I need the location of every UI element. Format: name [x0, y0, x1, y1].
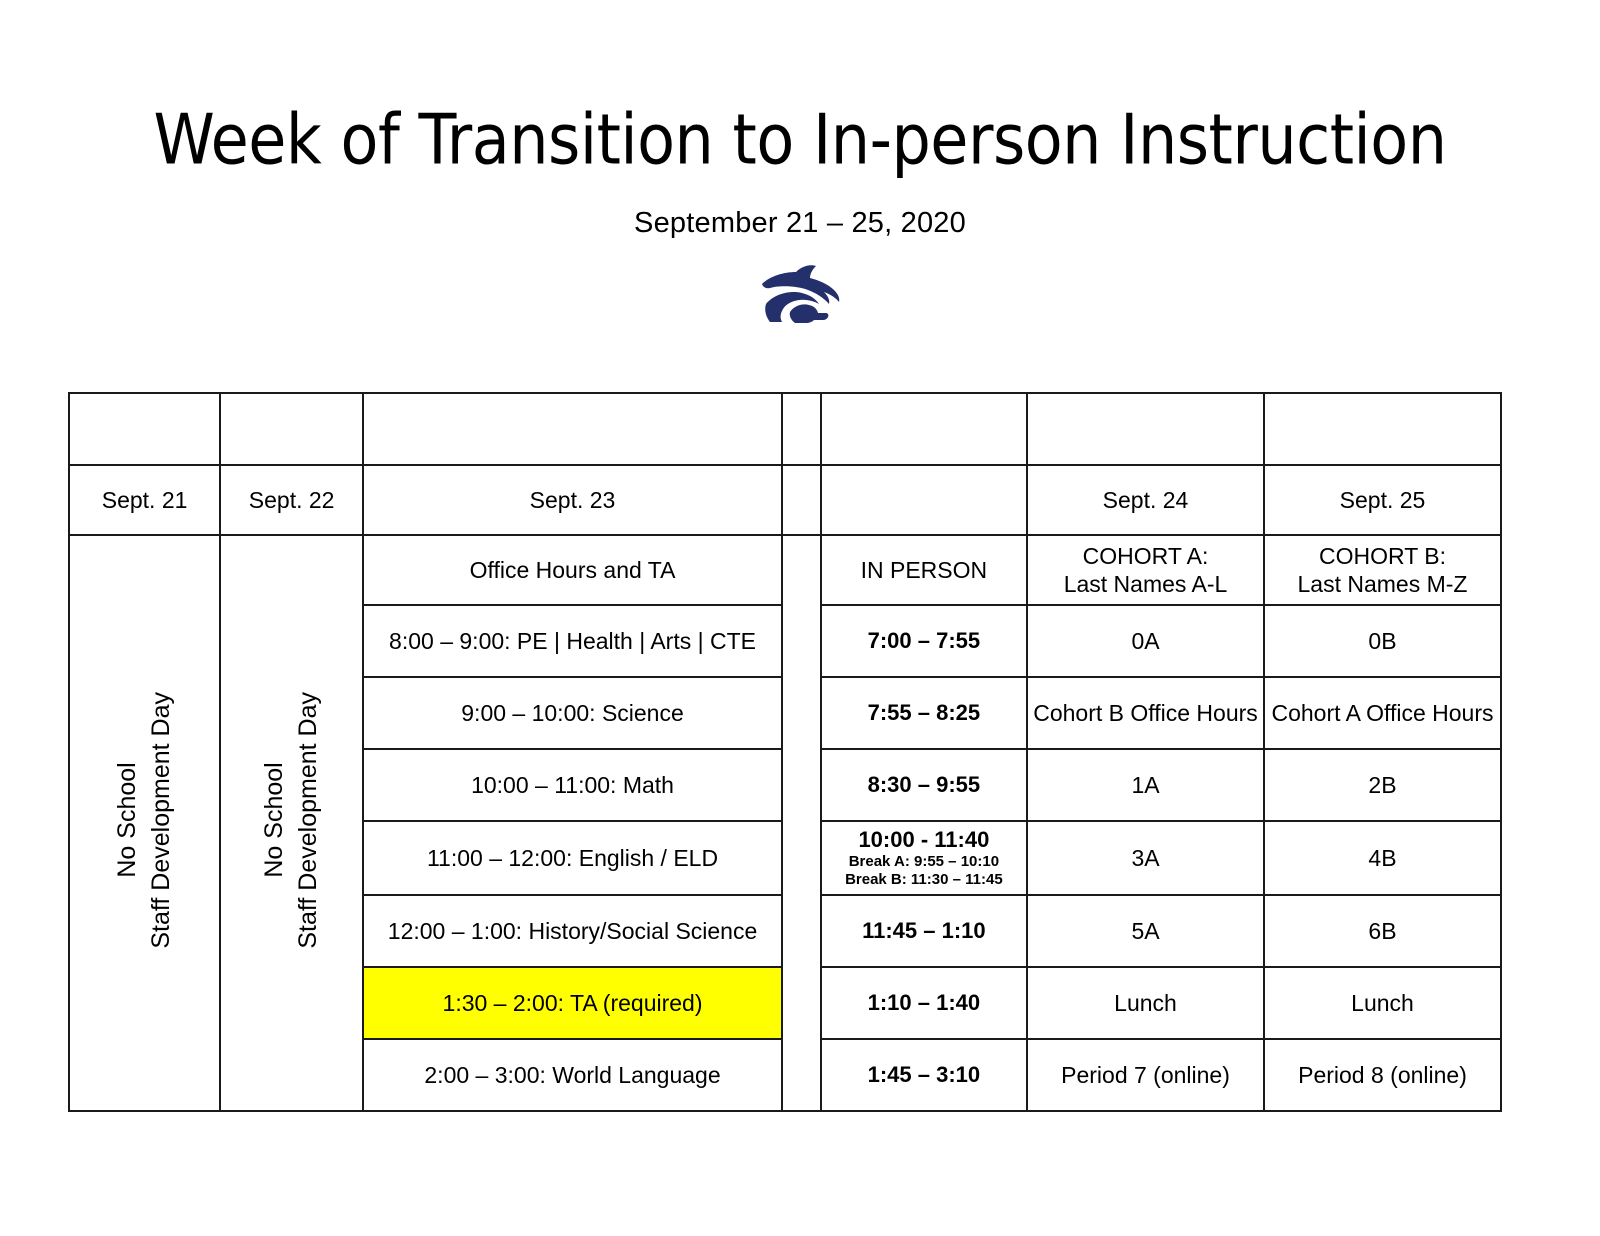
thursday-block: Period 7 (online) [1027, 1039, 1264, 1111]
day-header-row: MONDAY TUESDAY WEDNESDAY THURSDAY FRIDAY [69, 393, 1501, 465]
date-time-spacer [821, 465, 1027, 535]
cohort-banner-row: No School Staff Development Day No Schoo… [69, 535, 1501, 605]
schedule-page: Week of Transition to In-person Instruct… [0, 0, 1600, 1236]
wednesday-block: 11:00 – 12:00: English / ELD [363, 821, 782, 895]
time-main: 8:30 – 9:55 [822, 772, 1026, 798]
wednesday-block: 9:00 – 10:00: Science [363, 677, 782, 749]
time-main: 10:00 - 11:40 [822, 827, 1026, 853]
monday-no-school-label: No School Staff Development Day [111, 692, 179, 949]
thursday-cohort-line1: COHORT A: [1083, 543, 1209, 569]
in-person-time: 7:00 – 7:55 [821, 605, 1027, 677]
logo-container [0, 240, 1600, 326]
header-friday: FRIDAY [1264, 393, 1501, 465]
thursday-block: 3A [1027, 821, 1264, 895]
header-monday: MONDAY [69, 393, 220, 465]
friday-cohort-banner: COHORT B: Last Names M-Z [1264, 535, 1501, 605]
friday-block: 4B [1264, 821, 1501, 895]
in-person-time: 10:00 - 11:40 Break A: 9:55 – 10:10 Brea… [821, 821, 1027, 895]
in-person-label: IN PERSON [821, 535, 1027, 605]
tuesday-no-school-cell: No School Staff Development Day [220, 535, 363, 1111]
wednesday-block: 2:00 – 3:00: World Language [363, 1039, 782, 1111]
monday-no-school-cell: No School Staff Development Day [69, 535, 220, 1111]
header-tuesday: TUESDAY [220, 393, 363, 465]
page-title: Week of Transition to In-person Instruct… [0, 0, 1600, 176]
thursday-block: 0A [1027, 605, 1264, 677]
date-thursday: Sept. 24 [1027, 465, 1264, 535]
weekly-schedule-table: MONDAY TUESDAY WEDNESDAY THURSDAY FRIDAY… [68, 392, 1502, 1112]
schedule-table-container: MONDAY TUESDAY WEDNESDAY THURSDAY FRIDAY… [68, 392, 1502, 1112]
column-divider [782, 535, 821, 1111]
header-time-spacer [821, 393, 1027, 465]
friday-block: 6B [1264, 895, 1501, 967]
date-monday: Sept. 21 [69, 465, 220, 535]
time-main: 7:00 – 7:55 [822, 628, 1026, 654]
friday-block: 2B [1264, 749, 1501, 821]
friday-block: Cohort A Office Hours [1264, 677, 1501, 749]
thursday-block: Lunch [1027, 967, 1264, 1039]
in-person-time: 8:30 – 9:55 [821, 749, 1027, 821]
friday-block: Period 8 (online) [1264, 1039, 1501, 1111]
time-break-b: Break B: 11:30 – 11:45 [822, 871, 1026, 889]
date-wednesday: Sept. 23 [363, 465, 782, 535]
in-person-time: 7:55 – 8:25 [821, 677, 1027, 749]
thursday-block: Cohort B Office Hours [1027, 677, 1264, 749]
header-wednesday: WEDNESDAY [363, 393, 782, 465]
time-main: 7:55 – 8:25 [822, 700, 1026, 726]
in-person-time: 1:45 – 3:10 [821, 1039, 1027, 1111]
thursday-block: 1A [1027, 749, 1264, 821]
thursday-block: 5A [1027, 895, 1264, 967]
time-break-a: Break A: 9:55 – 10:10 [822, 853, 1026, 871]
in-person-time: 11:45 – 1:10 [821, 895, 1027, 967]
wednesday-block-highlighted: 1:30 – 2:00: TA (required) [363, 967, 782, 1039]
time-main: 1:45 – 3:10 [822, 1062, 1026, 1088]
time-main: 11:45 – 1:10 [822, 918, 1026, 944]
thursday-cohort-line2: Last Names A-L [1064, 571, 1228, 597]
wednesday-block: 12:00 – 1:00: History/Social Science [363, 895, 782, 967]
date-row: Sept. 21 Sept. 22 Sept. 23 Sept. 24 Sept… [69, 465, 1501, 535]
wolf-mascot-logo-icon [740, 262, 860, 326]
in-person-time: 1:10 – 1:40 [821, 967, 1027, 1039]
wednesday-section-heading: Office Hours and TA [363, 535, 782, 605]
time-main: 1:10 – 1:40 [822, 990, 1026, 1016]
friday-block: Lunch [1264, 967, 1501, 1039]
date-tuesday: Sept. 22 [220, 465, 363, 535]
wednesday-block: 8:00 – 9:00: PE | Health | Arts | CTE [363, 605, 782, 677]
wednesday-block: 10:00 – 11:00: Math [363, 749, 782, 821]
friday-cohort-line2: Last Names M-Z [1298, 571, 1468, 597]
column-divider [782, 465, 821, 535]
date-friday: Sept. 25 [1264, 465, 1501, 535]
column-divider [782, 393, 821, 465]
header-thursday: THURSDAY [1027, 393, 1264, 465]
thursday-cohort-banner: COHORT A: Last Names A-L [1027, 535, 1264, 605]
friday-cohort-line1: COHORT B: [1319, 543, 1446, 569]
tuesday-no-school-label: No School Staff Development Day [258, 692, 326, 949]
friday-block: 0B [1264, 605, 1501, 677]
